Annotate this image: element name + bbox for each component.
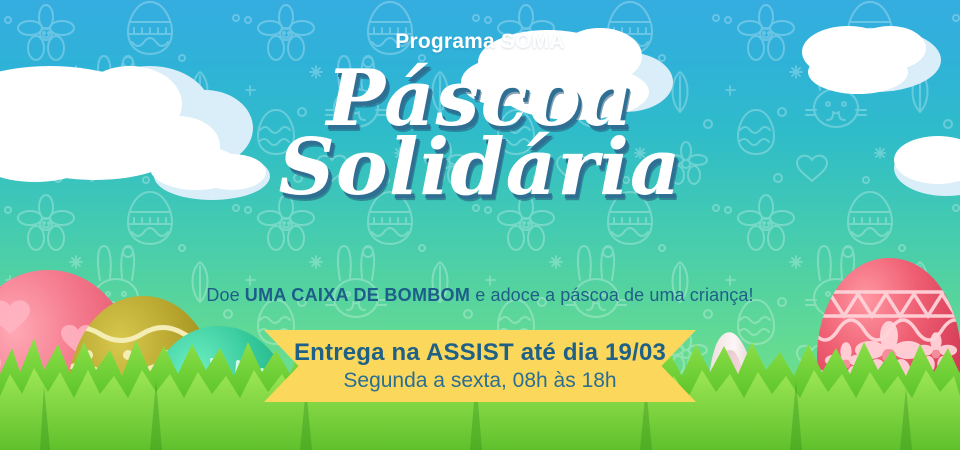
delivery-ribbon: Entrega na ASSIST até dia 19/03 Segunda … [264, 330, 696, 402]
program-kicker: Programa SOMA [0, 30, 960, 54]
easter-campaign-banner: Programa SOMA Páscoa Solidária Doe UMA C… [0, 0, 960, 450]
headline-line-2: Solidária [0, 131, 960, 206]
tagline-prefix: Doe [206, 285, 244, 305]
delivery-hours: Segunda a sexta, 08h às 18h [343, 369, 616, 393]
tagline-suffix: e adoce a páscoa de uma criança! [470, 285, 753, 305]
delivery-deadline: Entrega na ASSIST até dia 19/03 [294, 339, 666, 367]
tagline-emphasis: UMA CAIXA DE BOMBOM [245, 285, 470, 305]
campaign-tagline: Doe UMA CAIXA DE BOMBOM e adoce a páscoa… [0, 285, 960, 306]
page-title: Páscoa Solidária [0, 62, 960, 206]
delivery-ribbon-body: Entrega na ASSIST até dia 19/03 Segunda … [264, 330, 696, 402]
